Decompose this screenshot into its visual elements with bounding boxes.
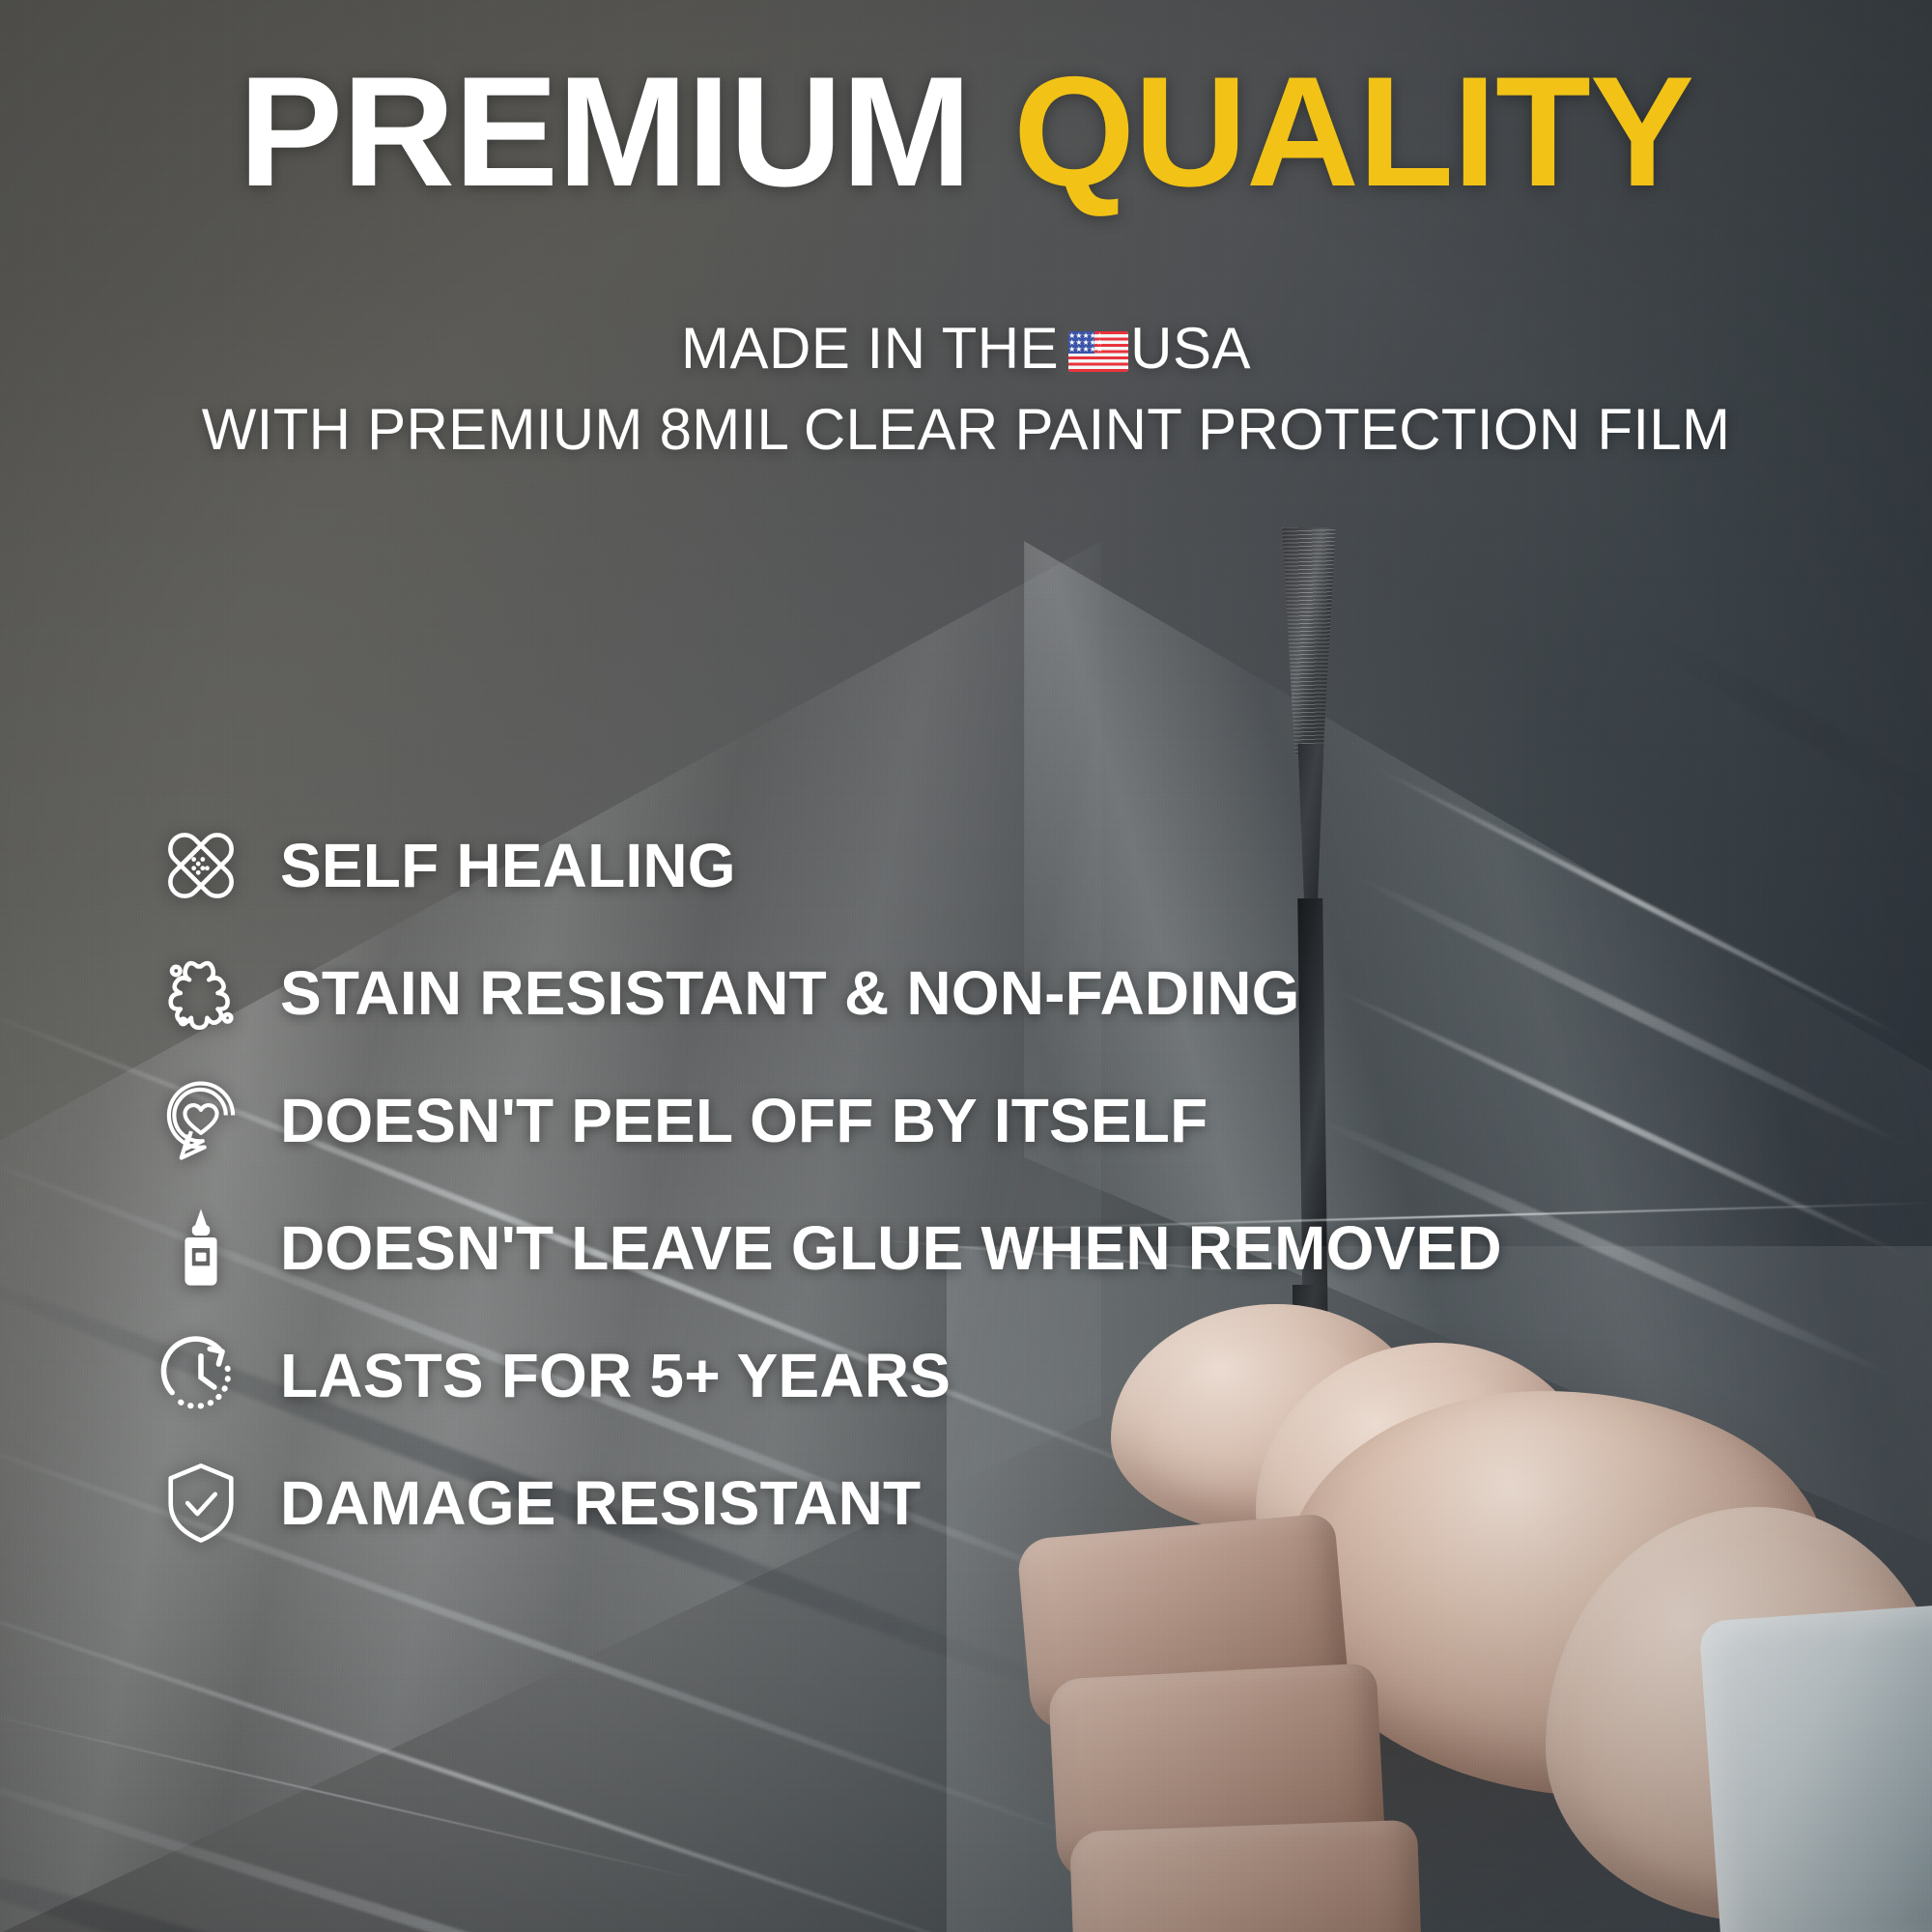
- page-title: PREMIUM QUALITY: [0, 54, 1932, 211]
- subtitle-made-in-the: MADE IN THE: [681, 316, 1059, 381]
- feature-label: LASTS FOR 5+ YEARS: [280, 1340, 951, 1411]
- feature-item-damage-resistant: DAMAGE RESISTANT: [155, 1439, 1502, 1567]
- stain-splat-icon: [155, 947, 247, 1039]
- heart-sticker-icon: [155, 1074, 247, 1167]
- headline-word-premium: PREMIUM: [239, 44, 971, 219]
- shield-check-icon: [155, 1457, 247, 1549]
- clock-arrow-icon: [155, 1329, 247, 1422]
- headline-word-quality: QUALITY: [1013, 44, 1693, 219]
- feature-label: DOESN'T LEAVE GLUE WHEN REMOVED: [280, 1212, 1502, 1284]
- feature-item-self-healing: SELF HEALING: [155, 802, 1502, 929]
- feature-list: SELF HEALING STAIN RESISTANT & NON-FADIN…: [155, 802, 1502, 1567]
- bandage-icon: [155, 819, 247, 912]
- feature-label: STAIN RESISTANT & NON-FADING: [280, 957, 1300, 1029]
- feature-item-lasts-5-years: LASTS FOR 5+ YEARS: [155, 1312, 1502, 1439]
- feature-item-no-glue: DOESN'T LEAVE GLUE WHEN REMOVED: [155, 1184, 1502, 1312]
- glue-bottle-icon: [155, 1202, 247, 1294]
- subtitle-usa: USA: [1130, 316, 1251, 381]
- feature-label: DOESN'T PEEL OFF BY ITSELF: [280, 1085, 1207, 1156]
- feature-label: DAMAGE RESISTANT: [280, 1467, 921, 1539]
- feature-label: SELF HEALING: [280, 830, 736, 901]
- feature-item-no-peel: DOESN'T PEEL OFF BY ITSELF: [155, 1057, 1502, 1184]
- feature-item-stain-resistant: STAIN RESISTANT & NON-FADING: [155, 929, 1502, 1057]
- subtitle-film-spec: WITH PREMIUM 8MIL CLEAR PAINT PROTECTION…: [0, 396, 1932, 463]
- us-flag-icon: ★★★★★★★★★★★★★★★: [1068, 331, 1128, 372]
- subtitle-made-in-usa: MADE IN THE★★★★★★★★★★★★★★★USA: [0, 315, 1932, 382]
- infographic-canvas: PREMIUM QUALITY MADE IN THE★★★★★★★★★★★★★…: [0, 0, 1932, 1932]
